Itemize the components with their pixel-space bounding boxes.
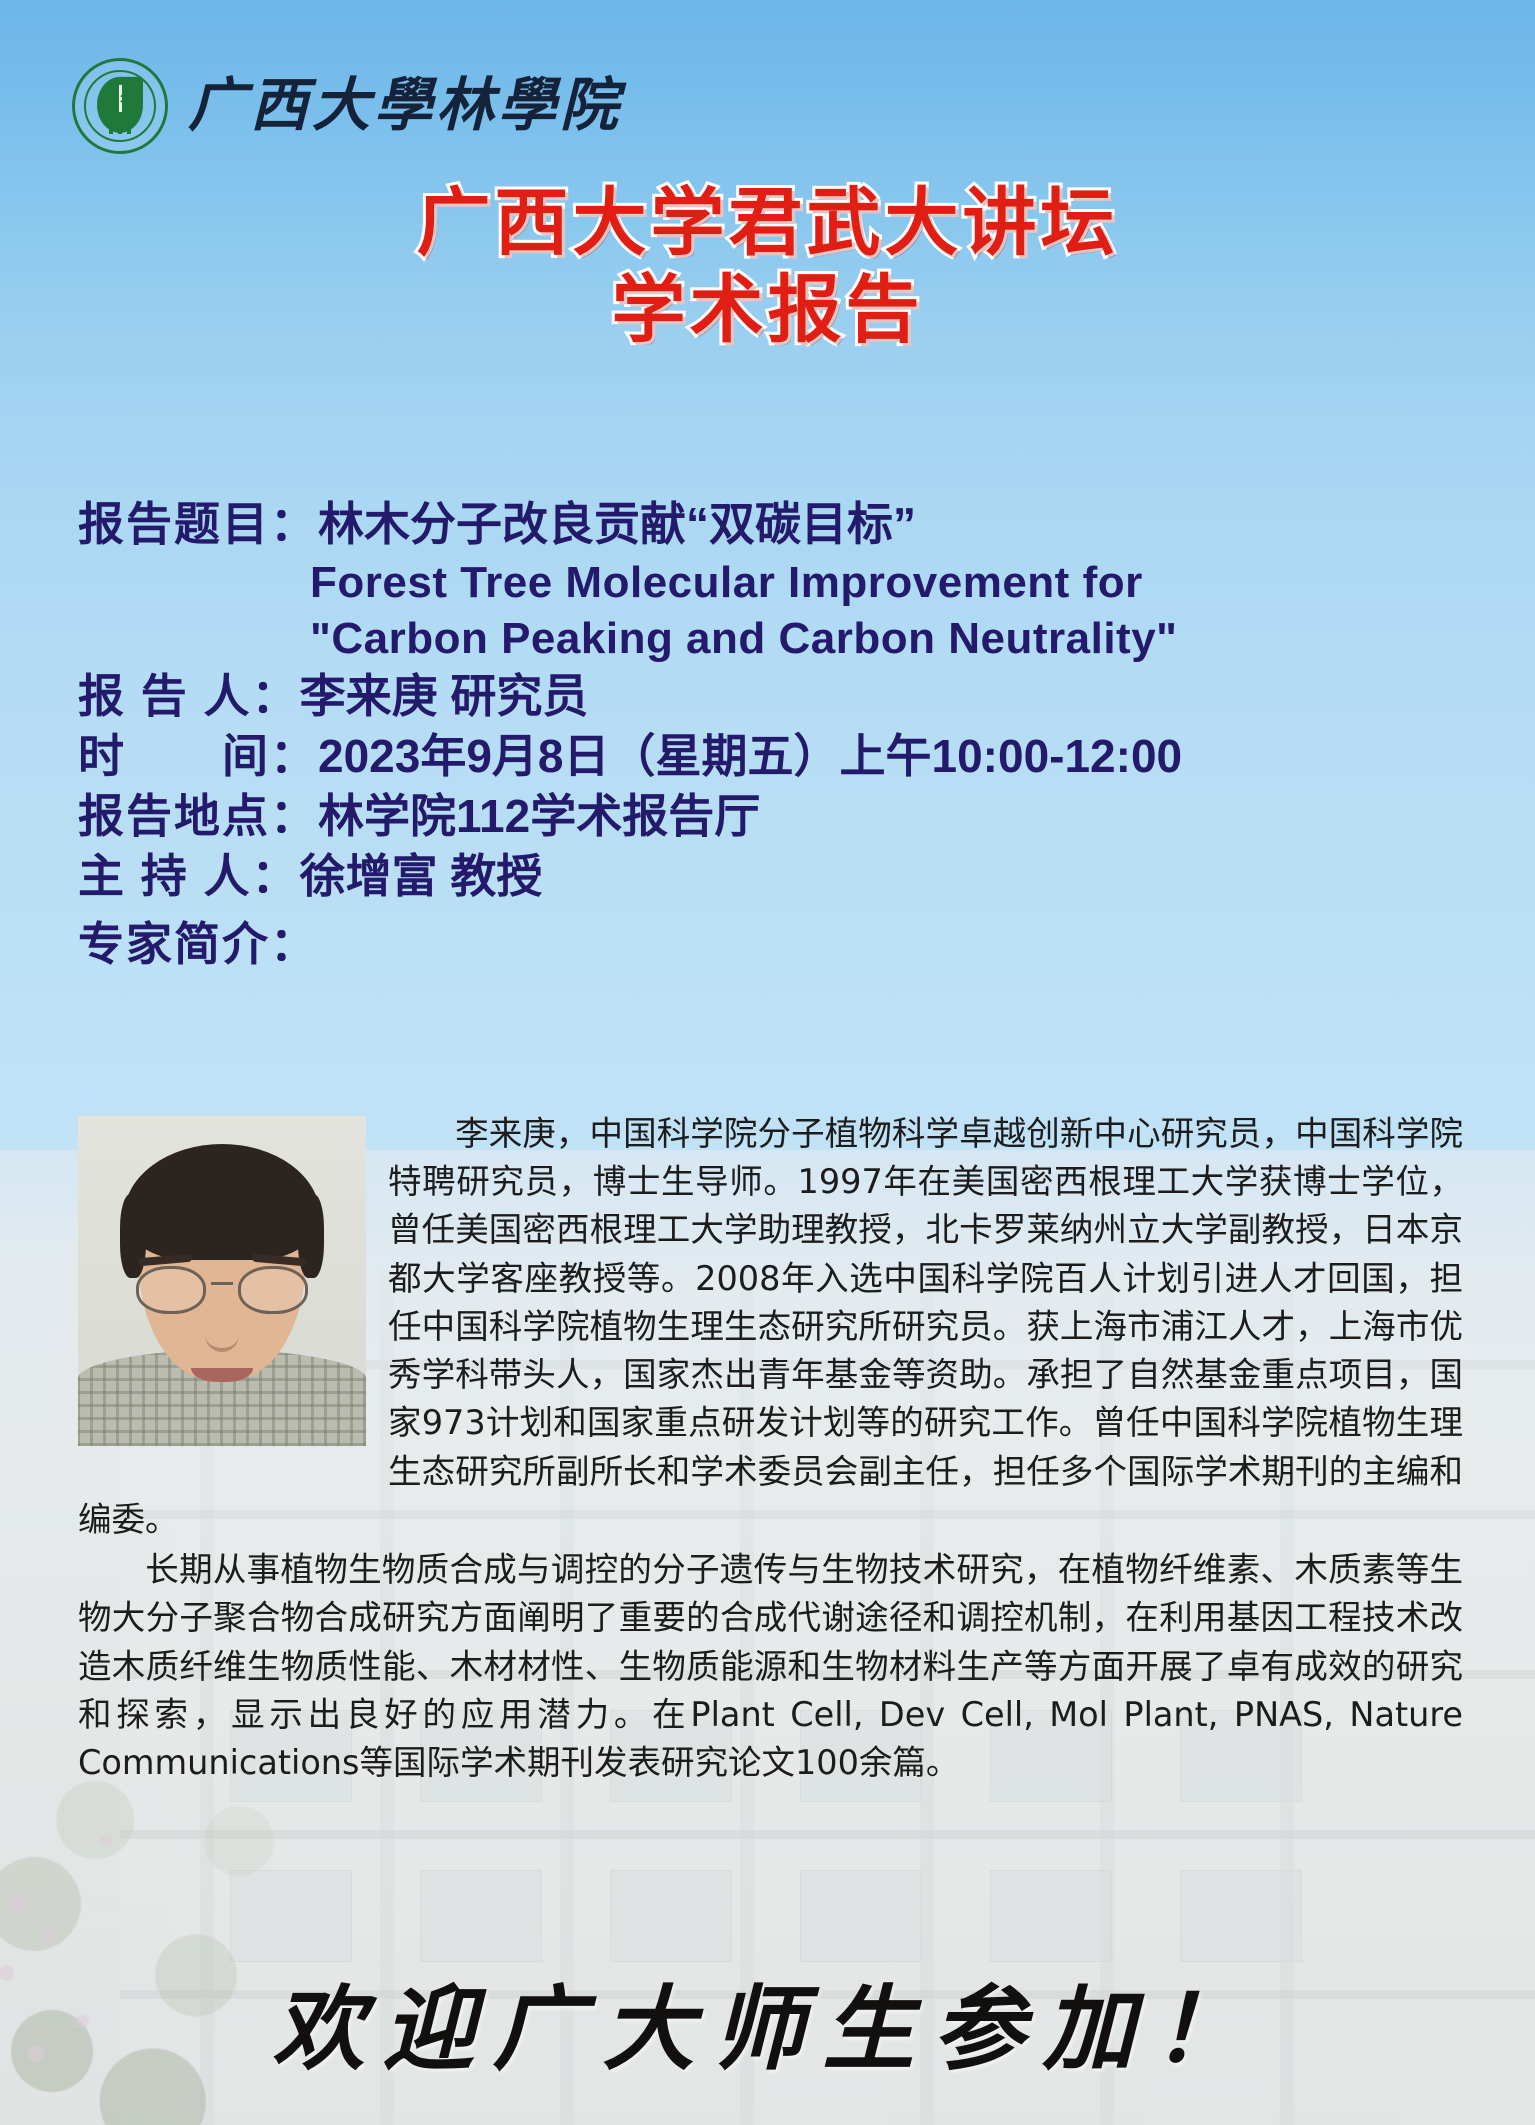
bio-section-heading: 专家简介： <box>78 915 1458 975</box>
emblem-year: 1932 <box>105 92 136 106</box>
guangxi-university-forestry-emblem-icon: 1932 <box>72 58 168 154</box>
welcome-message: 欢迎广大师生参加！ <box>0 1955 1535 2088</box>
topic-row: 报告题目：林木分子改良贡献“双碳目标” <box>78 495 1458 555</box>
time-value: 2023年9月8日（星期五）上午10:00-12:00 <box>318 730 1182 782</box>
host-row: 主 持 人：徐增富 教授 <box>78 847 1458 907</box>
college-header: 1932 广西大學林學院 <box>72 58 622 154</box>
speaker-row: 报 告 人：李来庚 研究员 <box>78 667 1458 727</box>
time-label: 时 间： <box>78 730 318 782</box>
speaker-portrait-photo <box>78 1116 366 1446</box>
speaker-value: 李来庚 研究员 <box>300 670 589 722</box>
biography-section: 李来庚，中国科学院分子植物科学卓越创新中心研究员，中国科学院特聘研究员，博士生导… <box>78 1110 1463 1787</box>
host-label: 主 持 人： <box>78 850 300 902</box>
college-wordmark: 广西大學林學院 <box>188 77 622 135</box>
bio-paragraph-2-text: 长期从事植物生物质合成与调控的分子遗传与生物技术研究，在植物纤维素、木质素等生物… <box>78 1550 1463 1782</box>
topic-label: 报告题目： <box>78 498 318 550</box>
host-value: 徐增富 教授 <box>300 850 543 902</box>
title-line-2: 学术报告 <box>0 267 1535 354</box>
title-line-1: 广西大学君武大讲坛 <box>0 180 1535 267</box>
topic-en-line-2: "Carbon Peaking and Carbon Neutrality" <box>78 611 1458 667</box>
bio-paragraph-2: 长期从事植物生物质合成与调控的分子遗传与生物技术研究，在植物纤维素、木质素等生物… <box>78 1546 1463 1787</box>
poster-title: 广西大学君武大讲坛 学术报告 <box>0 180 1535 355</box>
topic-en-line-1: Forest Tree Molecular Improvement for <box>78 555 1458 611</box>
seminar-poster: 1932 广西大學林學院 广西大学君武大讲坛 学术报告 报告题目：林木分子改良贡… <box>0 0 1535 2125</box>
event-details: 报告题目：林木分子改良贡献“双碳目标” Forest Tree Molecula… <box>78 495 1458 974</box>
topic-value-cn: 林木分子改良贡献“双碳目标” <box>318 498 916 550</box>
venue-label: 报告地点： <box>78 790 318 842</box>
time-row: 时 间：2023年9月8日（星期五）上午10:00-12:00 <box>78 727 1458 787</box>
venue-value: 林学院112学术报告厅 <box>318 790 760 842</box>
venue-row: 报告地点：林学院112学术报告厅 <box>78 787 1458 847</box>
speaker-label: 报 告 人： <box>78 670 300 722</box>
